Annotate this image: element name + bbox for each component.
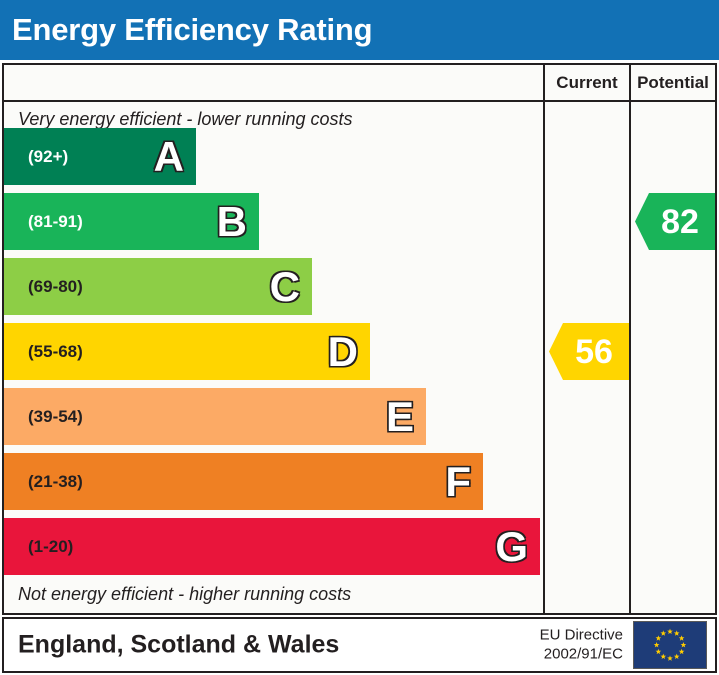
current-rating-value: 56 <box>565 335 613 369</box>
band-letter-a: A <box>154 136 184 178</box>
title-bar: Energy Efficiency Rating <box>0 0 719 60</box>
rating-band-d: (55-68)D <box>4 323 370 380</box>
band-range-e: (39-54) <box>28 407 83 427</box>
band-letter-f: F <box>445 461 471 503</box>
band-letter-d: D <box>328 331 358 373</box>
potential-rating-value: 82 <box>651 205 699 239</box>
band-letter-g: G <box>495 526 528 568</box>
eu-flag-icon <box>633 621 707 669</box>
energy-efficiency-rating-certificate: Energy Efficiency Rating Current Potenti… <box>0 0 719 675</box>
band-range-c: (69-80) <box>28 277 83 297</box>
band-range-b: (81-91) <box>28 212 83 232</box>
rating-band-b: (81-91)B <box>4 193 259 250</box>
rating-band-c: (69-80)C <box>4 258 312 315</box>
potential-rating-marker: 82 <box>635 193 715 250</box>
band-range-a: (92+) <box>28 147 68 167</box>
footer-directive-line1: EU Directive <box>540 626 623 645</box>
footer-directive-line2: 2002/91/EC <box>540 645 623 664</box>
band-range-g: (1-20) <box>28 537 73 557</box>
rating-band-f: (21-38)F <box>4 453 483 510</box>
page-title: Energy Efficiency Rating <box>12 12 372 48</box>
footer-directive: EU Directive 2002/91/EC <box>540 626 623 664</box>
footer-bar: England, Scotland & Wales EU Directive 2… <box>2 617 717 673</box>
potential-column-divider <box>629 65 631 613</box>
rating-chart: Current Potential Very energy efficient … <box>2 63 717 615</box>
rating-bands: (92+)A(81-91)B(69-80)C(55-68)D(39-54)E(2… <box>4 65 543 613</box>
current-rating-marker: 56 <box>549 323 629 380</box>
band-letter-e: E <box>386 396 414 438</box>
band-letter-c: C <box>270 266 300 308</box>
column-header-current: Current <box>545 65 629 100</box>
column-header-potential: Potential <box>631 65 715 100</box>
rating-band-g: (1-20)G <box>4 518 540 575</box>
current-column-divider <box>543 65 545 613</box>
rating-band-e: (39-54)E <box>4 388 426 445</box>
band-range-d: (55-68) <box>28 342 83 362</box>
band-range-f: (21-38) <box>28 472 83 492</box>
rating-band-a: (92+)A <box>4 128 196 185</box>
footer-region-label: England, Scotland & Wales <box>18 631 339 660</box>
band-letter-b: B <box>217 201 247 243</box>
